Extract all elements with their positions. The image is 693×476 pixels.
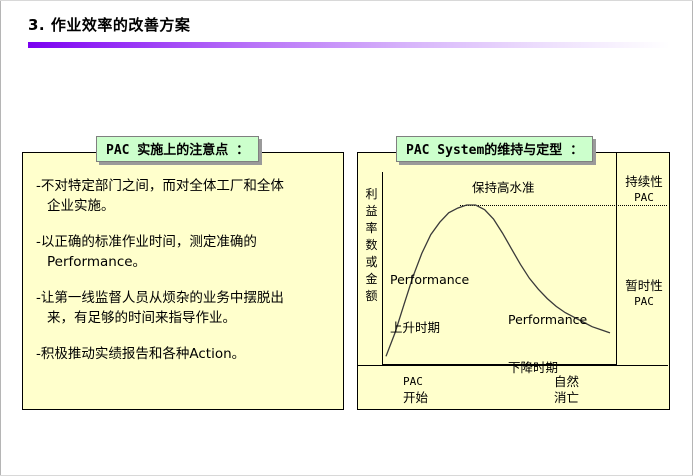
slide-border-top (0, 0, 693, 1)
annotation-falling-en: Performance (508, 312, 587, 328)
chart-section-divider (616, 152, 617, 365)
y-axis-char: 数 (363, 237, 380, 254)
x-axis-start-label: PAC 开始 (403, 374, 428, 406)
annotation-rising-en: Performance (390, 272, 469, 288)
x-axis-start-en: PAC (403, 374, 428, 390)
x-axis-end-cn-2: 消亡 (554, 390, 579, 406)
y-axis-char: 金 (363, 271, 380, 288)
list-item: -积极推动实绩报告和各种Action。 (36, 344, 336, 364)
y-axis-char: 率 (363, 220, 380, 237)
chart-y-axis-label: 利 益 率 数 或 金 额 (363, 186, 380, 305)
side-label-temporary-en: PAC (620, 294, 668, 310)
pac-lifecycle-chart: 利 益 率 数 或 金 额 保持高水准 Performance 上升时期 Per… (357, 152, 670, 410)
slide-border-left (0, 0, 1, 476)
side-label-temporary-cn: 暂时性 (620, 278, 668, 294)
y-axis-char: 利 (363, 186, 380, 203)
left-panel-bullet-list: -不对特定部门之间，而对全体工厂和全体 企业实施。 -以正确的标准作业时间，测定… (36, 176, 336, 364)
list-item: -以正确的标准作业时间，测定准确的 Performance。 (36, 232, 336, 272)
list-item: -不对特定部门之间，而对全体工厂和全体 企业实施。 (36, 176, 336, 216)
x-axis-end-cn-1: 自然 (554, 374, 579, 390)
chart-y-axis (382, 172, 383, 365)
side-label-sustained-cn: 持续性 (620, 174, 668, 190)
x-axis-end-label: 自然 消亡 (554, 374, 579, 406)
annotation-high-level: 保持高水准 (472, 180, 535, 196)
y-axis-char: 额 (363, 288, 380, 305)
side-label-sustained-pac: 持续性 PAC (620, 174, 668, 206)
list-item: -让第一线监督人员从烦杂的业务中摆脱出 来，有足够的时间来指导作业。 (36, 288, 336, 328)
left-panel-badge: PAC 实施上的注意点 ： (96, 136, 259, 162)
side-label-temporary-pac: 暂时性 PAC (620, 278, 668, 310)
annotation-rising-period: Performance 上升时期 (390, 240, 469, 368)
y-axis-char: 或 (363, 254, 380, 271)
page-title: 3. 作业效率的改善方案 (28, 14, 190, 35)
title-accent-rule (28, 42, 670, 48)
y-axis-char: 益 (363, 203, 380, 220)
side-label-sustained-en: PAC (620, 190, 668, 206)
annotation-rising-cn: 上升时期 (390, 320, 469, 336)
x-axis-start-cn: 开始 (403, 390, 428, 406)
